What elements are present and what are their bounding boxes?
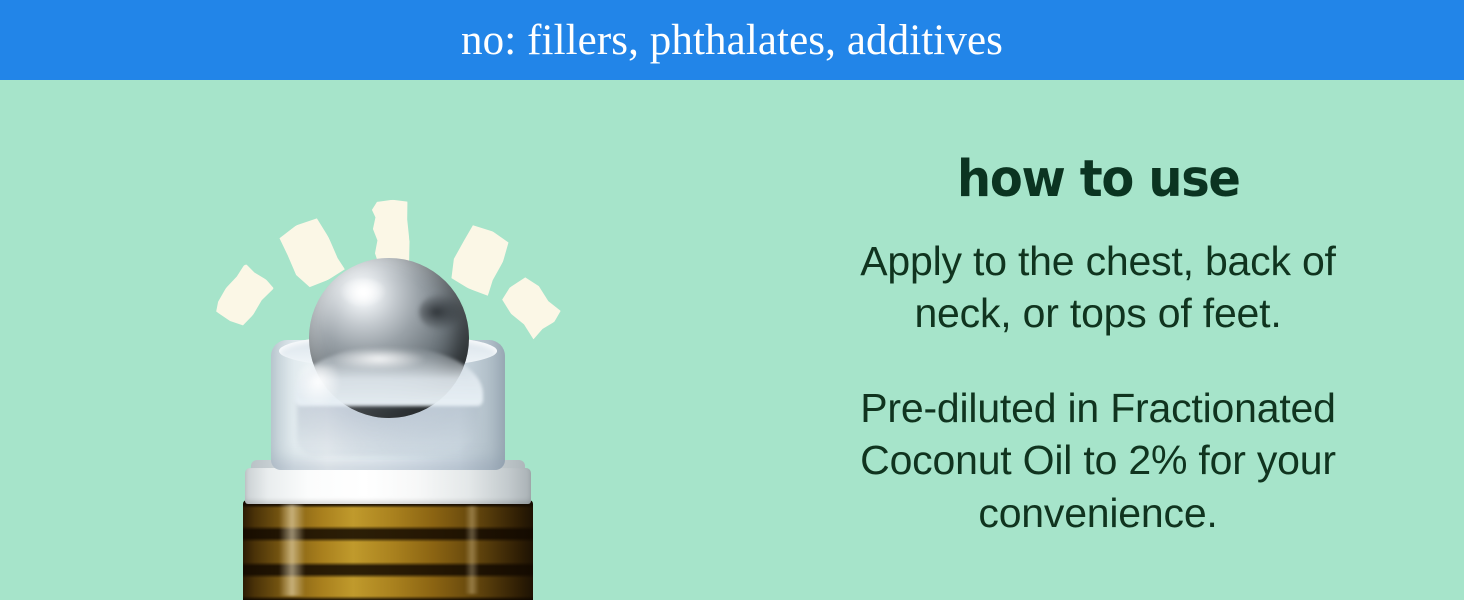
instruction-paragraph-2: Pre-diluted in Fractionated Coconut Oil …: [818, 382, 1378, 539]
glass-highlight: [279, 504, 305, 596]
white-collar-ring: [245, 468, 531, 504]
how-to-use-section: how to use Apply to the chest, back of n…: [732, 80, 1464, 600]
claims-banner-text: no: fillers, phthalates, additives: [461, 19, 1003, 62]
panel-body: how to use Apply to the chest, back of n…: [0, 80, 1464, 600]
instruction-paragraph-1: Apply to the chest, back of neck, or top…: [818, 235, 1378, 340]
housing-gloss: [295, 366, 341, 406]
claims-banner: no: fillers, phthalates, additives: [0, 0, 1464, 80]
rollerball-highlight: [339, 278, 387, 308]
roller-bottle: [243, 228, 533, 600]
rollerball-specular: [331, 348, 427, 370]
rollerball-shadow: [419, 294, 463, 330]
product-photo: [0, 80, 732, 600]
section-heading: how to use: [957, 154, 1240, 205]
glass-highlight: [465, 506, 479, 594]
product-info-panel: no: fillers, phthalates, additives: [0, 0, 1464, 600]
